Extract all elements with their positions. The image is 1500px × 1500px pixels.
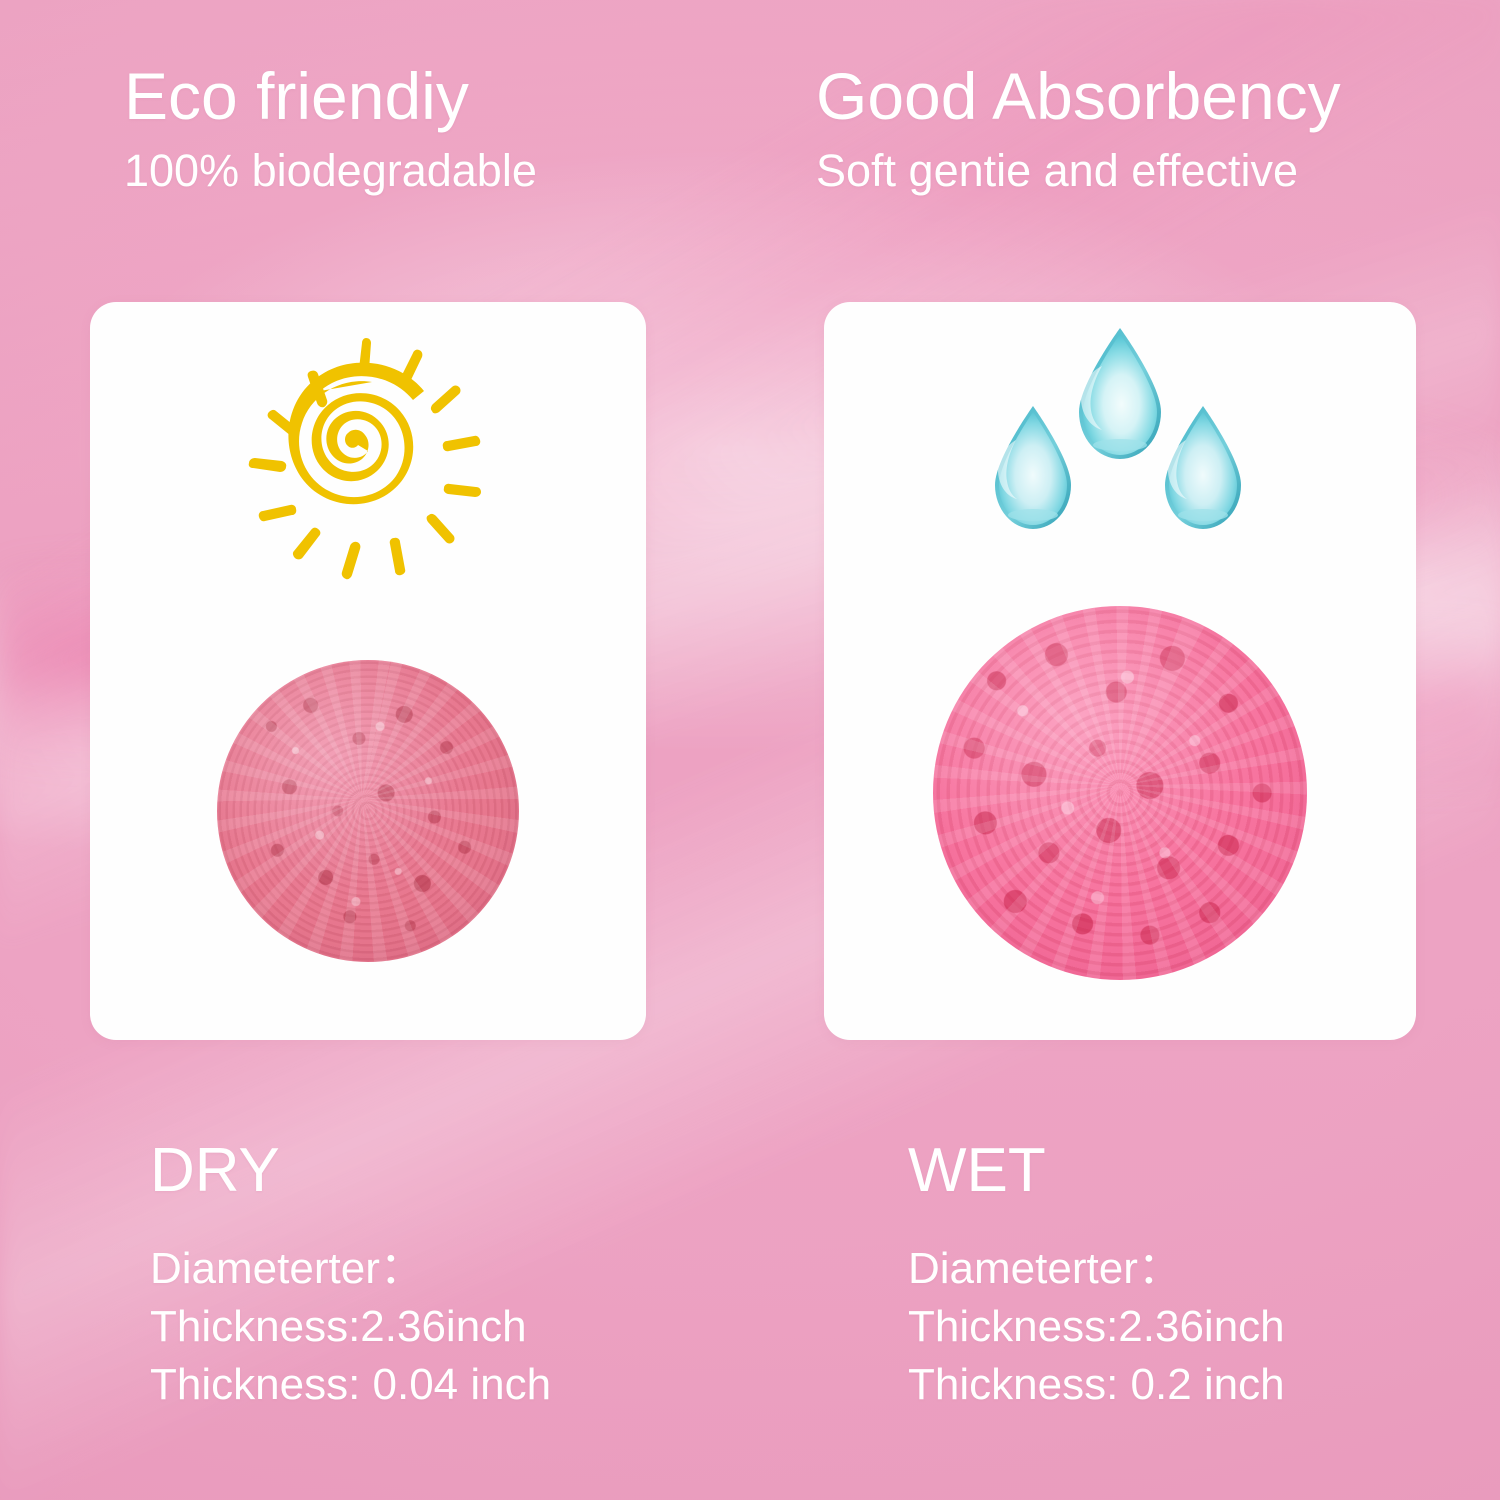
spec-lines-dry: Diameterter： Thickness:2.36inch Thicknes… [150,1240,551,1414]
sun-icon [233,330,503,600]
state-label-wet: WET [908,1140,1285,1202]
specs-block-dry: DRY Diameterter： Thickness:2.36inch Thic… [150,1140,551,1414]
dry-sponge [217,660,519,962]
panel-subtitle-eco-friendly: 100% biodegradable [124,146,537,196]
spec-line-diameter-wet: Diameterter： [908,1240,1285,1298]
panel-title-eco-friendly: Eco friendiy [124,62,537,132]
spec-lines-wet: Diameterter： Thickness:2.36inch Thicknes… [908,1240,1285,1414]
spec-line-thickness-b-dry: Thickness: 0.04 inch [150,1356,551,1414]
specs-block-wet: WET Diameterter： Thickness:2.36inch Thic… [908,1140,1285,1414]
product-infographic-poster: Eco friendiy 100% biodegradable Good Abs… [0,0,1500,1500]
panel-header-good-absorbency: Good Absorbency Soft gentie and effectiv… [816,62,1341,195]
spec-line-thickness-a-wet: Thickness:2.36inch [908,1298,1285,1356]
panel-title-good-absorbency: Good Absorbency [816,62,1341,132]
wet-sponge-shading [933,606,1307,980]
panel-subtitle-good-absorbency: Soft gentie and effective [816,146,1341,196]
product-card-wet [824,302,1416,1040]
dry-sponge-shading [217,660,519,962]
product-card-dry [90,302,646,1040]
spec-line-diameter-dry: Diameterter： [150,1240,551,1298]
wet-sponge [933,606,1307,980]
spec-line-thickness-a-dry: Thickness:2.36inch [150,1298,551,1356]
state-label-dry: DRY [150,1140,551,1202]
water-droplets-icon [975,320,1265,576]
spec-line-thickness-b-wet: Thickness: 0.2 inch [908,1356,1285,1414]
panel-header-eco-friendly: Eco friendiy 100% biodegradable [124,62,537,195]
